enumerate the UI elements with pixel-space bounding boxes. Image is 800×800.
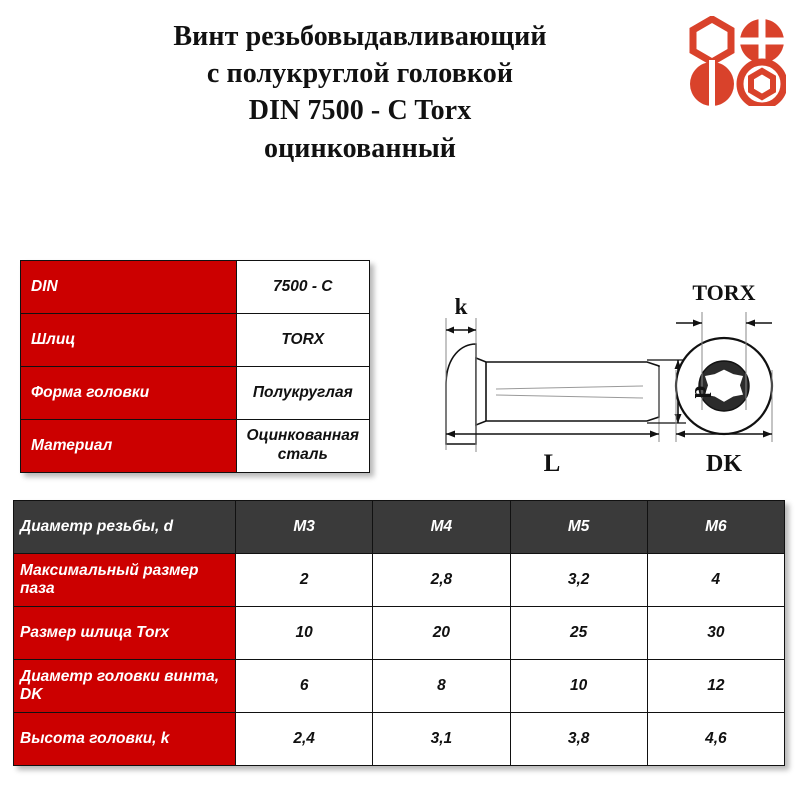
page-title-line-3: DIN 7500 - C Torx bbox=[60, 92, 660, 129]
dim-row-label: Максимальный размер паза bbox=[14, 554, 236, 607]
company-logo bbox=[688, 16, 786, 106]
label-L: L bbox=[544, 450, 561, 477]
page-title-line-1: Винт резьбовыдавливающий bbox=[60, 18, 660, 55]
screw-shank bbox=[476, 358, 659, 425]
technical-drawing: k L d TORX DK bbox=[400, 252, 798, 478]
spec-key: Материал bbox=[21, 420, 237, 473]
screw-head bbox=[446, 344, 476, 444]
dim-cell: 2,8 bbox=[373, 554, 510, 607]
dim-cell: 2,4 bbox=[236, 713, 373, 766]
dim-cell: 4 bbox=[647, 554, 784, 607]
slotted-head-icon bbox=[690, 60, 734, 106]
dim-column-header: M6 bbox=[647, 501, 784, 554]
table-row: Материал Оцинкованная сталь bbox=[21, 420, 370, 473]
spec-key: DIN bbox=[21, 261, 237, 314]
label-k: k bbox=[455, 294, 468, 319]
dim-row-label: Размер шлица Torx bbox=[14, 607, 236, 660]
dim-column-header: M5 bbox=[510, 501, 647, 554]
table-row: Размер шлица Torx 10 20 25 30 bbox=[14, 607, 785, 660]
dim-cell: 25 bbox=[510, 607, 647, 660]
spec-key: Форма головки bbox=[21, 367, 237, 420]
dim-cell: 8 bbox=[373, 660, 510, 713]
dim-column-header: M4 bbox=[373, 501, 510, 554]
spec-value: TORX bbox=[236, 314, 369, 367]
dim-cell: 6 bbox=[236, 660, 373, 713]
dim-cell: 4,6 bbox=[647, 713, 784, 766]
page-title: Винт резьбовыдавливающий с полукруглой г… bbox=[60, 18, 660, 167]
dim-cell: 12 bbox=[647, 660, 784, 713]
spec-value: Оцинкованная сталь bbox=[236, 420, 369, 473]
spec-value: Полукруглая bbox=[236, 367, 369, 420]
dim-cell: 3,8 bbox=[510, 713, 647, 766]
table-row: DIN 7500 - C bbox=[21, 261, 370, 314]
dim-cell: 3,2 bbox=[510, 554, 647, 607]
dim-cell: 10 bbox=[510, 660, 647, 713]
label-d: d bbox=[690, 386, 715, 399]
table-header-row: Диаметр резьбы, d M3 M4 M5 M6 bbox=[14, 501, 785, 554]
hex-nut-icon bbox=[693, 19, 731, 62]
table-row: Высота головки, k 2,4 3,1 3,8 4,6 bbox=[14, 713, 785, 766]
dimensions-table: Диаметр резьбы, d M3 M4 M5 M6 Максимальн… bbox=[13, 500, 785, 766]
table-row: Форма головки Полукруглая bbox=[21, 367, 370, 420]
phillips-head-icon bbox=[738, 17, 786, 65]
dim-cell: 10 bbox=[236, 607, 373, 660]
dim-cell: 20 bbox=[373, 607, 510, 660]
dim-column-header: M3 bbox=[236, 501, 373, 554]
dim-corner-label: Диаметр резьбы, d bbox=[14, 501, 236, 554]
label-torx: TORX bbox=[692, 280, 755, 305]
dim-cell: 30 bbox=[647, 607, 784, 660]
table-row: Шлиц TORX bbox=[21, 314, 370, 367]
label-dk: DK bbox=[706, 451, 742, 477]
spec-value: 7500 - C bbox=[236, 261, 369, 314]
spec-key: Шлиц bbox=[21, 314, 237, 367]
page-title-line-2: с полукруглой головкой bbox=[60, 55, 660, 92]
hex-socket-head-icon bbox=[740, 62, 784, 106]
table-row: Диаметр головки винта, DK 6 8 10 12 bbox=[14, 660, 785, 713]
specification-table: DIN 7500 - C Шлиц TORX Форма головки Пол… bbox=[20, 260, 370, 473]
dim-row-label: Диаметр головки винта, DK bbox=[14, 660, 236, 713]
dim-cell: 2 bbox=[236, 554, 373, 607]
page-title-line-4: оцинкованный bbox=[60, 130, 660, 167]
table-row: Максимальный размер паза 2 2,8 3,2 4 bbox=[14, 554, 785, 607]
dim-cell: 3,1 bbox=[373, 713, 510, 766]
dim-row-label: Высота головки, k bbox=[14, 713, 236, 766]
